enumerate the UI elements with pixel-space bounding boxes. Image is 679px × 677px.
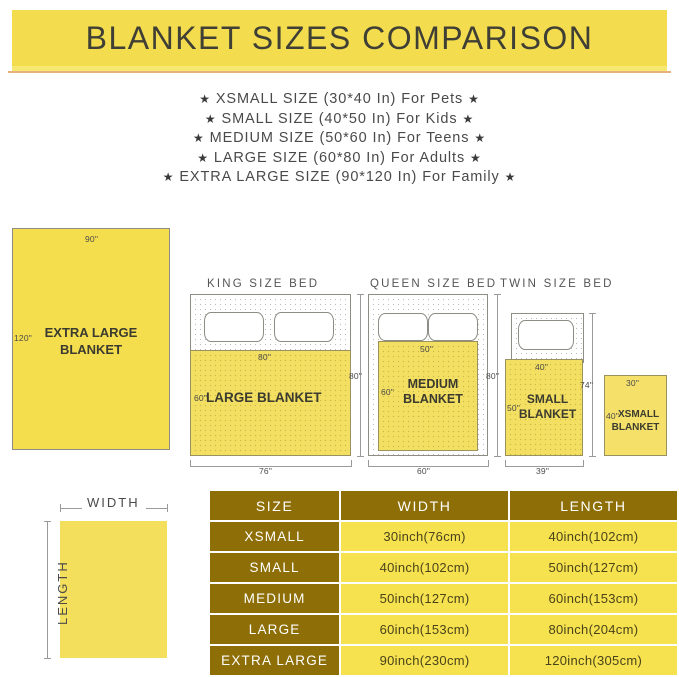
cell-size: SMALL [210, 553, 339, 582]
queen-bed-bottom-dimension: 60" [417, 466, 430, 476]
list-item-label: EXTRA LARGE SIZE (90*120 In) For Family [179, 169, 499, 185]
king-pillow-left [204, 312, 264, 342]
cell-length: 80inch(204cm) [510, 615, 677, 644]
medium-blanket-label-line1: MEDIUM [388, 377, 478, 392]
star-icon: ★ [505, 170, 517, 184]
list-item-label: LARGE SIZE (60*80 In) For Adults [214, 150, 465, 166]
king-pillow-right [274, 312, 334, 342]
cell-size: XSMALL [210, 522, 339, 551]
queen-right-tick-bottom [494, 456, 501, 457]
table-row: EXTRA LARGE 90inch(230cm) 120inch(305cm) [210, 646, 677, 675]
king-bottom-tick-right [351, 460, 352, 467]
twin-right-tick-top [589, 313, 596, 314]
list-item: ★ SMALL SIZE (40*50 In) For Kids ★ [0, 110, 679, 130]
cell-length: 50inch(127cm) [510, 553, 677, 582]
cell-width: 40inch(102cm) [341, 553, 508, 582]
list-item-label: XSMALL SIZE (30*40 In) For Pets [216, 91, 463, 107]
twin-bed-title: TWIN SIZE BED [500, 278, 614, 290]
list-item: ★ LARGE SIZE (60*80 In) For Adults ★ [0, 149, 679, 169]
column-header-width: WIDTH [341, 491, 508, 520]
queen-bottom-tick-left [368, 460, 369, 467]
banner-divider [8, 71, 671, 73]
twin-bed-right-dimension: 74" [580, 380, 593, 390]
list-item-label: MEDIUM SIZE (50*60 In) For Teens [210, 130, 470, 146]
large-blanket-label: LARGE BLANKET [206, 390, 351, 405]
cell-size: EXTRA LARGE [210, 646, 339, 675]
length-line [47, 521, 48, 658]
star-icon: ★ [193, 131, 205, 145]
twin-bottom-tick-left [505, 460, 506, 467]
cell-width: 30inch(76cm) [341, 522, 508, 551]
king-bed-title: KING SIZE BED [207, 278, 319, 290]
xsmall-top-dimension: 30" [626, 378, 639, 388]
twin-bottom-tick-right [583, 460, 584, 467]
star-icon: ★ [470, 151, 482, 165]
length-tick-bottom [44, 658, 51, 659]
star-icon: ★ [474, 131, 486, 145]
width-line-left [60, 508, 82, 509]
width-tick-left [60, 504, 61, 512]
small-blanket-label-line1: SMALL [512, 392, 583, 407]
twin-pillow [518, 320, 574, 350]
king-bottom-tick-left [190, 460, 191, 467]
queen-pillow-right [428, 313, 478, 341]
width-label: WIDTH [87, 495, 140, 510]
cell-length: 60inch(153cm) [510, 584, 677, 613]
size-bullet-list: ★ XSMALL SIZE (30*40 In) For Pets ★ ★ SM… [0, 90, 679, 188]
cell-width: 90inch(230cm) [341, 646, 508, 675]
twin-right-tick-bottom [589, 456, 596, 457]
star-icon: ★ [462, 112, 474, 126]
star-icon: ★ [205, 112, 217, 126]
twin-blanket-top-dimension: 40" [535, 362, 548, 372]
queen-bed-right-dimension: 80" [486, 371, 499, 381]
table-header-row: SIZE WIDTH LENGTH [210, 491, 677, 520]
title-banner: BLANKET SIZES COMPARISON [12, 10, 667, 66]
extra-large-blanket-label-line2: BLANKET [12, 342, 170, 357]
length-label: LENGTH [55, 560, 70, 625]
king-bed-bottom-dimension: 76" [259, 466, 272, 476]
list-item: ★ MEDIUM SIZE (50*60 In) For Teens ★ [0, 129, 679, 149]
list-item: ★ XSMALL SIZE (30*40 In) For Pets ★ [0, 90, 679, 110]
twin-bed-bottom-dimension: 39" [536, 466, 549, 476]
width-line-right [146, 508, 167, 509]
table-row: LARGE 60inch(153cm) 80inch(204cm) [210, 615, 677, 644]
king-bed-right-dimension: 80" [349, 371, 362, 381]
star-icon: ★ [199, 92, 211, 106]
star-icon: ★ [197, 151, 209, 165]
small-blanket-label-line2: BLANKET [512, 407, 583, 422]
star-icon: ★ [468, 92, 480, 106]
column-header-length: LENGTH [510, 491, 677, 520]
queen-blanket-top-dimension: 50" [420, 344, 433, 354]
table-row: SMALL 40inch(102cm) 50inch(127cm) [210, 553, 677, 582]
column-header-size: SIZE [210, 491, 339, 520]
cell-width: 50inch(127cm) [341, 584, 508, 613]
cell-size: LARGE [210, 615, 339, 644]
king-right-tick-bottom [357, 456, 364, 457]
cell-size: MEDIUM [210, 584, 339, 613]
extra-large-top-dimension: 90" [85, 234, 98, 244]
queen-pillow-left [378, 313, 428, 341]
list-item: ★ EXTRA LARGE SIZE (90*120 In) For Famil… [0, 168, 679, 188]
width-tick-right [167, 504, 168, 512]
cell-width: 60inch(153cm) [341, 615, 508, 644]
extra-large-blanket-label-line1: EXTRA LARGE [12, 325, 170, 340]
star-icon: ★ [163, 170, 175, 184]
infographic-canvas: BLANKET SIZES COMPARISON ★ XSMALL SIZE (… [0, 0, 679, 667]
length-tick-top [44, 521, 51, 522]
queen-bottom-tick-right [488, 460, 489, 467]
cell-length: 120inch(305cm) [510, 646, 677, 675]
table-row: MEDIUM 50inch(127cm) 60inch(153cm) [210, 584, 677, 613]
king-right-tick-top [357, 294, 364, 295]
size-chart-table: SIZE WIDTH LENGTH XSMALL 30inch(76cm) 40… [208, 489, 679, 677]
width-length-blanket-shape [60, 521, 167, 658]
queen-right-tick-top [494, 294, 501, 295]
queen-bed-title: QUEEN SIZE BED [370, 278, 497, 290]
cell-length: 40inch(102cm) [510, 522, 677, 551]
page-title: BLANKET SIZES COMPARISON [12, 10, 667, 66]
table-row: XSMALL 30inch(76cm) 40inch(102cm) [210, 522, 677, 551]
king-blanket-top-dimension: 80" [258, 352, 271, 362]
medium-blanket-label-line2: BLANKET [388, 392, 478, 407]
list-item-label: SMALL SIZE (40*50 In) For Kids [222, 111, 458, 127]
xsmall-blanket-label-line2: BLANKET [604, 420, 667, 435]
